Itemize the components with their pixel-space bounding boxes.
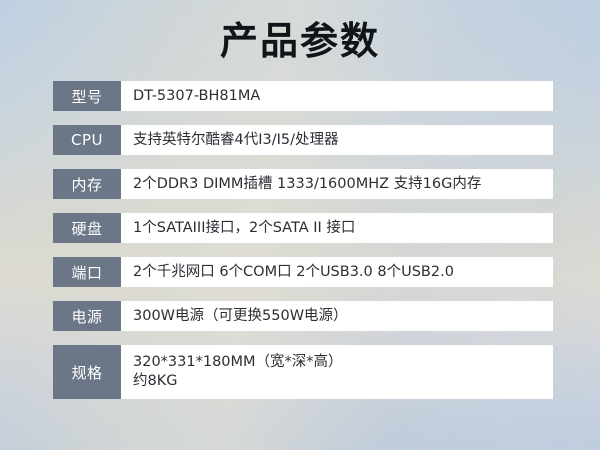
spec-value-dimensions-line2: 约8KG bbox=[133, 372, 545, 391]
spec-label-cpu: CPU bbox=[53, 125, 121, 155]
spec-row-dimensions: 规格 320*331*180MM（宽*深*高） 约8KG bbox=[53, 345, 553, 399]
spec-label-memory: 内存 bbox=[53, 169, 121, 199]
spec-label-ports: 端口 bbox=[53, 257, 121, 287]
spec-value-ports: 2个千兆网口 6个COM口 2个USB3.0 8个USB2.0 bbox=[121, 257, 553, 287]
spec-table: 型号 DT-5307-BH81MA CPU 支持英特尔酷睿4代I3/I5/处理器… bbox=[53, 81, 553, 399]
spec-value-memory: 2个DDR3 DIMM插槽 1333/1600MHZ 支持16G内存 bbox=[121, 169, 553, 199]
spec-value-storage: 1个SATAIII接口，2个SATA II 接口 bbox=[121, 213, 553, 243]
spec-row-model: 型号 DT-5307-BH81MA bbox=[53, 81, 553, 111]
product-spec-page: 产品参数 型号 DT-5307-BH81MA CPU 支持英特尔酷睿4代I3/I… bbox=[0, 0, 600, 450]
page-title: 产品参数 bbox=[0, 18, 600, 64]
spec-row-power: 电源 300W电源（可更换550W电源） bbox=[53, 301, 553, 331]
spec-value-model: DT-5307-BH81MA bbox=[121, 81, 553, 111]
spec-row-cpu: CPU 支持英特尔酷睿4代I3/I5/处理器 bbox=[53, 125, 553, 155]
spec-value-dimensions-line1: 320*331*180MM（宽*深*高） bbox=[133, 353, 545, 372]
spec-label-model: 型号 bbox=[53, 81, 121, 111]
spec-label-power: 电源 bbox=[53, 301, 121, 331]
spec-value-dimensions: 320*331*180MM（宽*深*高） 约8KG bbox=[121, 345, 553, 399]
spec-row-ports: 端口 2个千兆网口 6个COM口 2个USB3.0 8个USB2.0 bbox=[53, 257, 553, 287]
spec-row-storage: 硬盘 1个SATAIII接口，2个SATA II 接口 bbox=[53, 213, 553, 243]
spec-value-power: 300W电源（可更换550W电源） bbox=[121, 301, 553, 331]
spec-value-cpu: 支持英特尔酷睿4代I3/I5/处理器 bbox=[121, 125, 553, 155]
spec-label-dimensions: 规格 bbox=[53, 345, 121, 399]
spec-row-memory: 内存 2个DDR3 DIMM插槽 1333/1600MHZ 支持16G内存 bbox=[53, 169, 553, 199]
spec-label-storage: 硬盘 bbox=[53, 213, 121, 243]
